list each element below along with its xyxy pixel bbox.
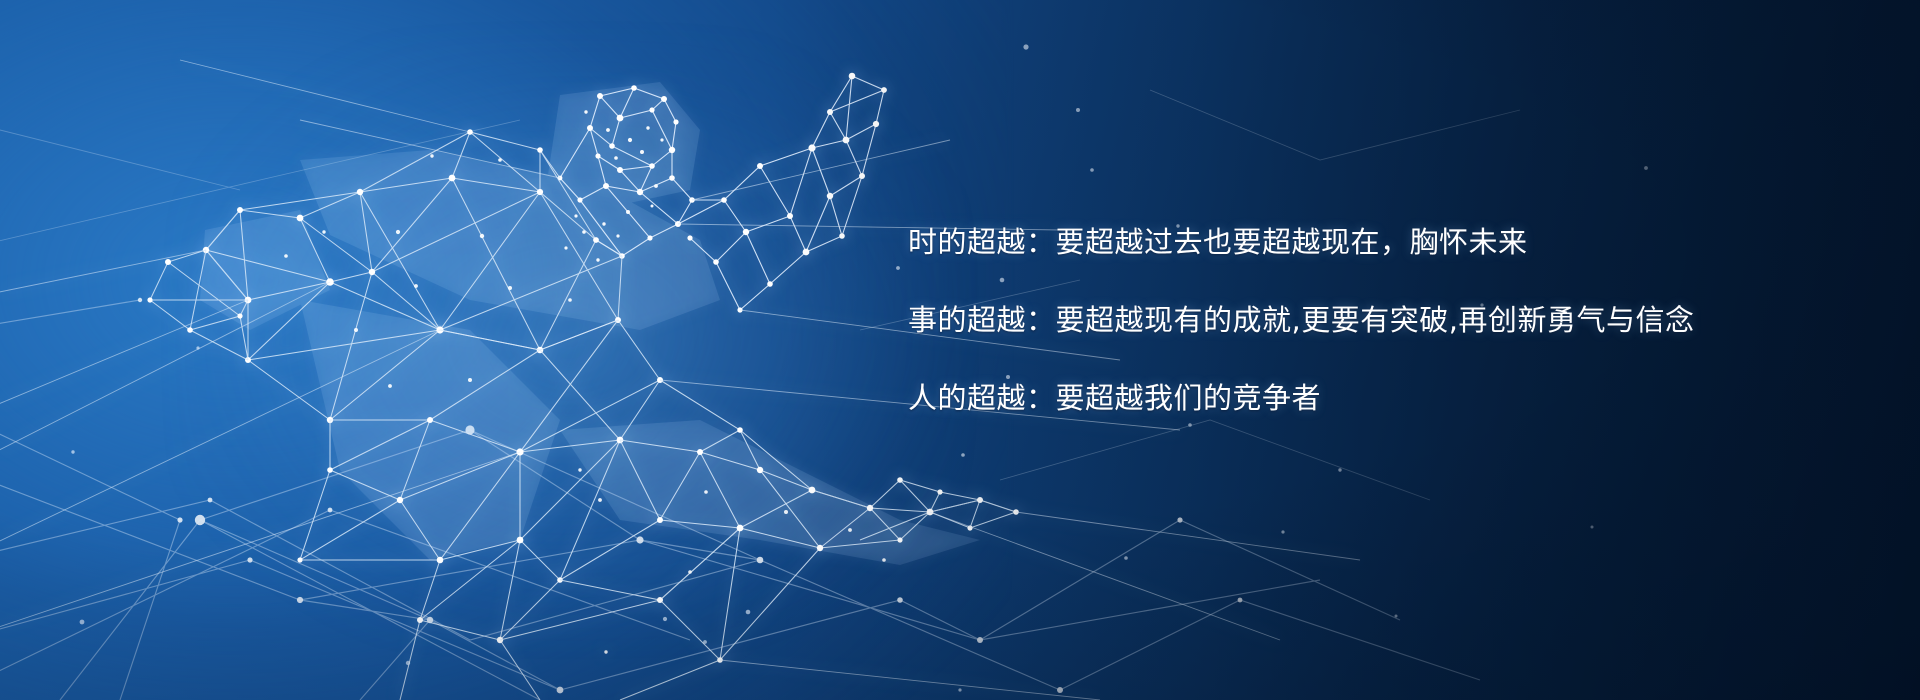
tagline-people: 人的超越：要超越我们的竞争者 (908, 384, 1808, 413)
hero-banner: 时的超越：要超越过去也要超越现在，胸怀未来 事的超越：要超越现有的成就,更要有突… (0, 0, 1920, 700)
tagline-matter: 事的超越：要超越现有的成就,更要有突破,再创新勇气与信念 (908, 306, 1808, 335)
slogan-text-block: 时的超越：要超越过去也要超越现在，胸怀未来 事的超越：要超越现有的成就,更要有突… (908, 228, 1808, 413)
tagline-time: 时的超越：要超越过去也要超越现在，胸怀未来 (908, 228, 1808, 257)
